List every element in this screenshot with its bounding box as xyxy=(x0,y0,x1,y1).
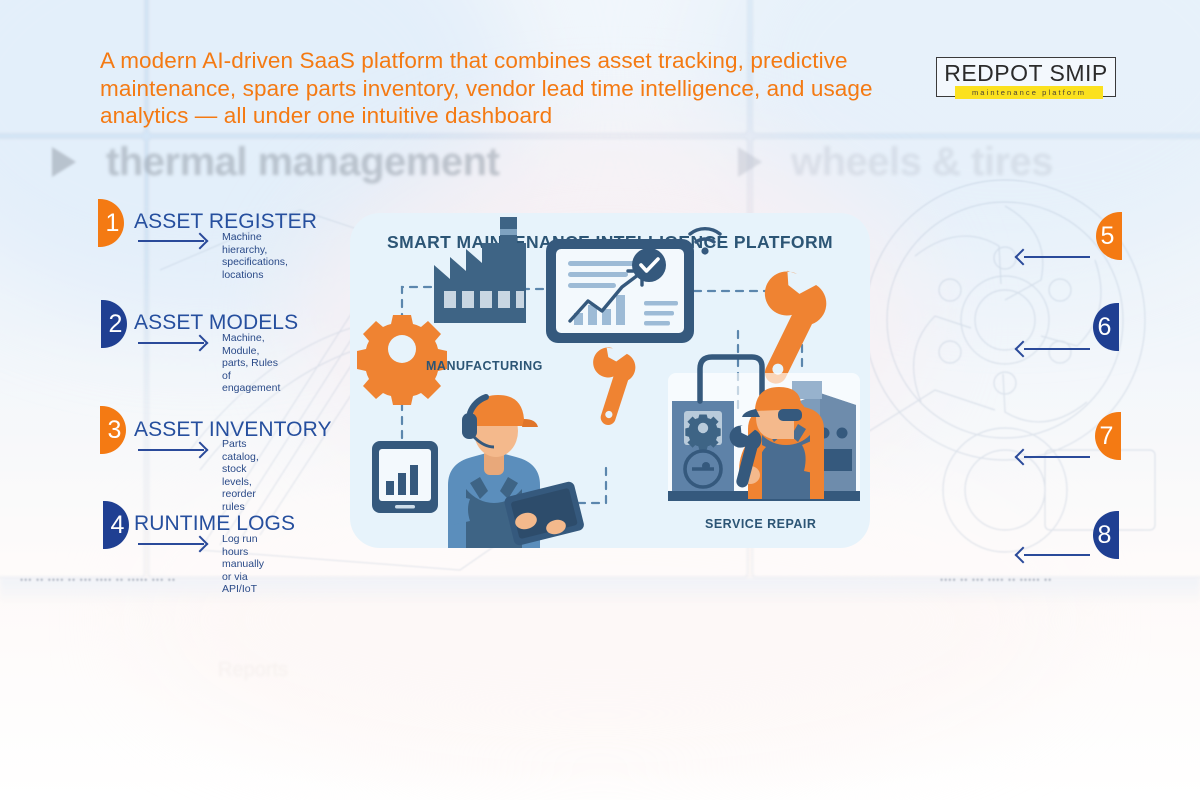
step-number-badge-7: 7 xyxy=(1095,412,1121,460)
step-number-badge-4: 4 xyxy=(103,501,129,549)
bg-ghost-text-left: thermal management xyxy=(106,140,499,185)
machine-gear-glyph xyxy=(685,414,720,449)
step-number-badge-8: 8 xyxy=(1093,511,1119,559)
brand-name: REDPOT SMIP xyxy=(937,60,1115,87)
brand-tagline: maintenance platform xyxy=(955,86,1103,99)
step-desc-2: Machine, Module, parts, Rules of engagem… xyxy=(222,332,280,395)
step-arrow-head-8 xyxy=(1015,547,1032,564)
step-desc-3: Parts catalog, stock levels, reorder rul… xyxy=(222,438,259,513)
step-arrow-line-6 xyxy=(1024,348,1090,350)
step-number-badge-3: 3 xyxy=(100,406,126,454)
step-arrow-head-1 xyxy=(192,233,209,250)
step-desc-4: Log run hours manually or via API/IoT xyxy=(222,533,264,596)
label-service-repair: SERVICE REPAIR xyxy=(705,517,816,531)
tablet-chart-icon xyxy=(372,441,438,513)
bg-play-triangle-right xyxy=(738,147,762,177)
platform-illustration xyxy=(350,213,870,548)
worker-with-tablet xyxy=(448,395,585,548)
step-title-4: RUNTIME LOGS xyxy=(134,512,295,536)
factory-icon xyxy=(434,217,526,323)
step-arrow-line-8 xyxy=(1024,554,1090,556)
platform-card: SMART MAINTENANCE INTELLIGENCE PLATFORM xyxy=(350,213,870,548)
infographic-canvas: thermal management wheels & tires ••• ••… xyxy=(0,0,1200,800)
bg-bottom-strip xyxy=(0,578,1200,604)
step-arrow-head-7 xyxy=(1015,449,1032,466)
bg-tiny-row-right: •••• •• ••• •••• •• ••••• •• xyxy=(940,575,1052,585)
step-arrow-head-6 xyxy=(1015,341,1032,358)
bg-play-triangle-left xyxy=(52,147,76,177)
service-repair-scene xyxy=(668,357,860,501)
page-headline: A modern AI-driven SaaS platform that co… xyxy=(100,47,890,130)
step-arrow-head-2 xyxy=(192,335,209,352)
wrench-icon-small xyxy=(572,343,640,427)
brand-logo: REDPOT SMIP maintenance platform xyxy=(936,57,1116,97)
step-number-badge-6: 6 xyxy=(1093,303,1119,351)
bg-ghost-text-right: wheels & tires xyxy=(791,140,1053,185)
wrench-icon-large xyxy=(725,263,834,388)
step-arrow-line-5 xyxy=(1024,256,1090,258)
wifi-icon xyxy=(690,229,720,255)
step-desc-1: Machine hierarchy, specifications, locat… xyxy=(222,231,288,281)
dashboard-monitor-icon xyxy=(546,239,694,343)
step-arrow-head-4 xyxy=(192,536,209,553)
bg-reports-text: Reports xyxy=(218,659,288,682)
step-arrow-head-5 xyxy=(1015,249,1032,266)
bg-wheel-right xyxy=(855,140,1200,580)
step-arrow-head-3 xyxy=(192,442,209,459)
step-arrow-line-7 xyxy=(1024,456,1090,458)
step-number-badge-1: 1 xyxy=(98,199,124,247)
step-number-badge-2: 2 xyxy=(101,300,127,348)
bg-tiny-row-left: ••• •• •••• •• ••• •••• •• ••••• ••• •• xyxy=(20,575,176,585)
step-number-badge-5: 5 xyxy=(1096,212,1122,260)
label-manufacturing: MANUFACTURING xyxy=(426,359,543,373)
